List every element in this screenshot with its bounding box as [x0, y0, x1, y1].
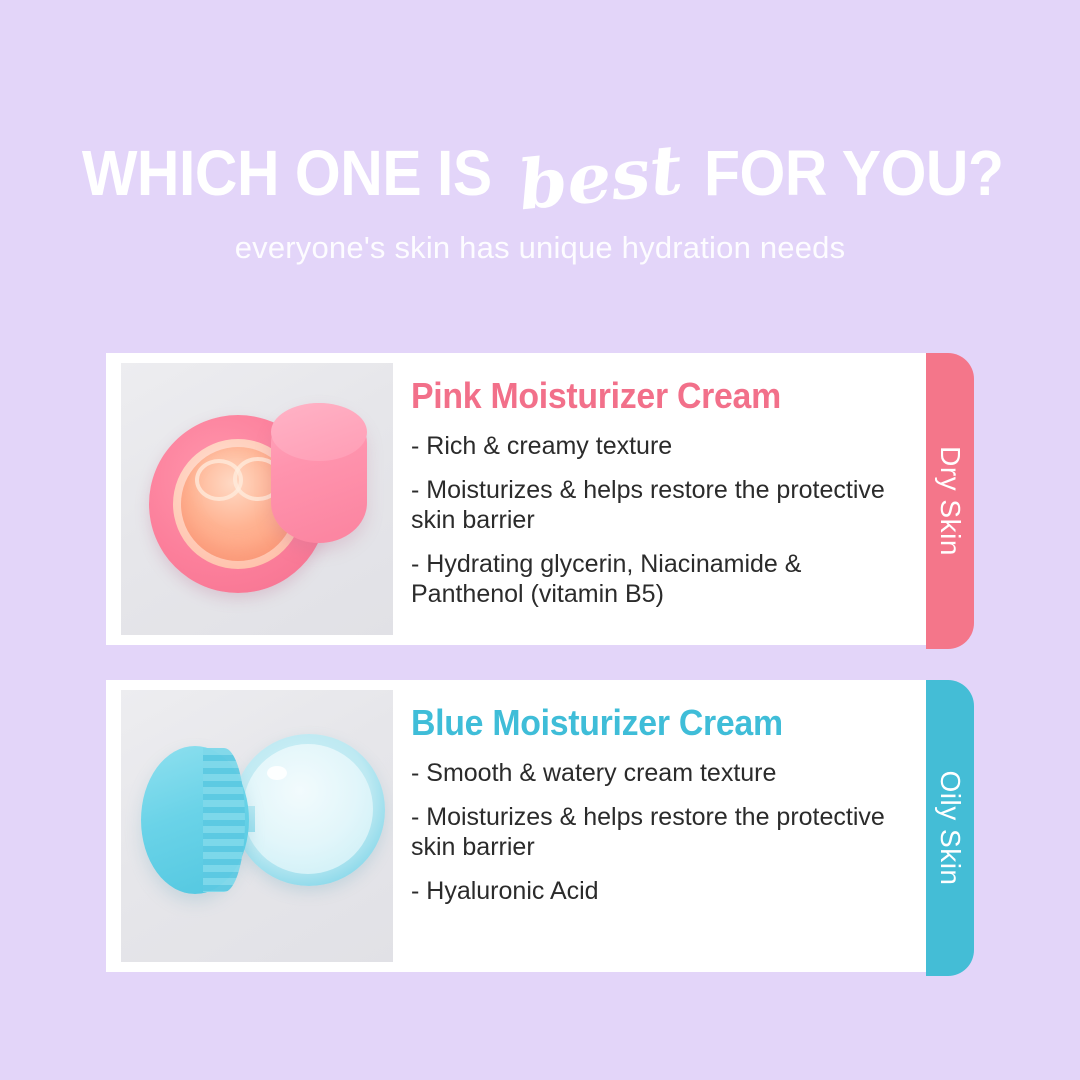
header: WHICH ONE IS best FOR YOU? everyone's sk…	[0, 0, 1080, 330]
list-item: - Rich & creamy texture	[411, 431, 886, 462]
headline-script-word: best	[509, 135, 691, 221]
list-item: - Hydrating glycerin, Niacinamide & Pant…	[411, 549, 886, 610]
pink-card-bullets: - Rich & creamy texture - Moisturizes & …	[411, 431, 908, 610]
product-card-blue: Blue Moisturizer Cream - Smooth & watery…	[106, 680, 932, 972]
page-subtitle: everyone's skin has unique hydration nee…	[0, 230, 1080, 266]
blue-card-body: Blue Moisturizer Cream - Smooth & watery…	[393, 680, 932, 972]
pink-jar-lid-top	[271, 403, 367, 461]
blue-jar-lid-ridges	[203, 748, 245, 892]
skin-type-tab-dry: Dry Skin	[926, 353, 974, 649]
list-item: - Moisturizes & helps restore the protec…	[411, 802, 886, 863]
skin-type-tab-oily: Oily Skin	[926, 680, 974, 976]
page-headline: WHICH ONE IS best FOR YOU?	[0, 138, 1080, 206]
list-item: - Moisturizes & helps restore the protec…	[411, 475, 886, 536]
pink-moisturizer-jar-photo	[121, 363, 393, 635]
blue-card-bullets: - Smooth & watery cream texture - Moistu…	[411, 758, 908, 906]
product-card-pink: Pink Moisturizer Cream - Rich & creamy t…	[106, 353, 932, 645]
headline-part-two: FOR YOU?	[704, 141, 1003, 205]
pink-card-title: Pink Moisturizer Cream	[411, 375, 878, 417]
list-item: - Smooth & watery cream texture	[411, 758, 886, 789]
pink-card-body: Pink Moisturizer Cream - Rich & creamy t…	[393, 353, 932, 645]
skin-type-tab-oily-label: Oily Skin	[934, 771, 966, 886]
headline-part-one: WHICH ONE IS	[82, 141, 492, 205]
blue-jar-cream-surface	[243, 744, 373, 874]
skin-type-tab-dry-label: Dry Skin	[934, 446, 966, 556]
blue-moisturizer-jar-photo	[121, 690, 393, 962]
blue-card-title: Blue Moisturizer Cream	[411, 702, 878, 744]
list-item: - Hyaluronic Acid	[411, 876, 886, 907]
blue-cream-bubble	[267, 766, 287, 780]
